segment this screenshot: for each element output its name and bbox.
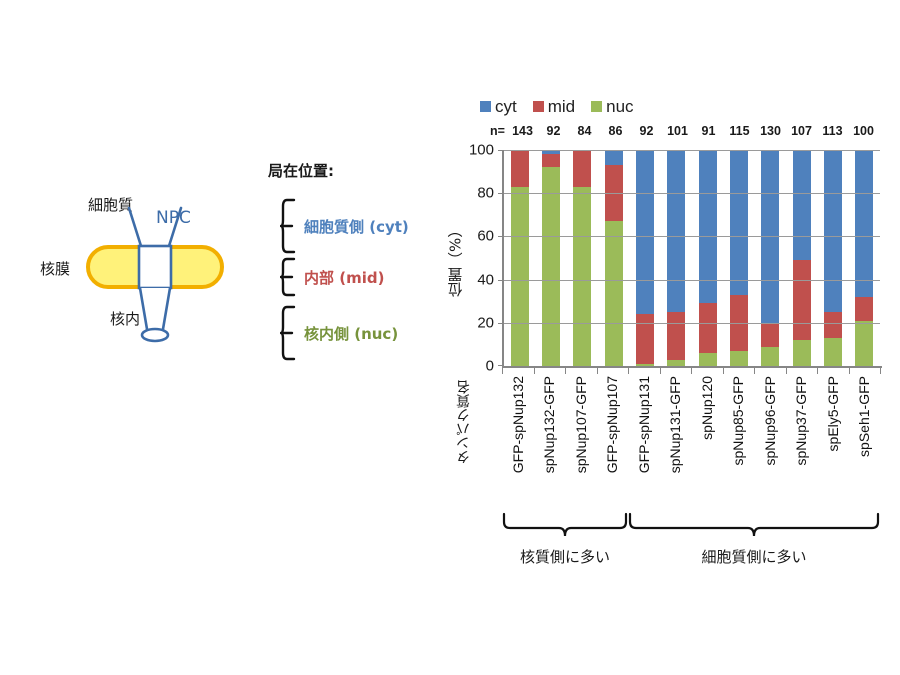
localization-label-nuc: 核内側 (nuc) xyxy=(304,323,398,344)
group-brace-1 xyxy=(630,514,878,536)
sample-size-row: n= 1439284869210191115130107113100 xyxy=(452,124,888,142)
bar-segment-nuc[interactable] xyxy=(855,321,873,366)
bar-slot[interactable] xyxy=(817,150,848,366)
bar-stack[interactable] xyxy=(511,150,529,366)
x-label-cell: spNup107-GFP xyxy=(565,376,597,506)
legend-swatch-mid-icon xyxy=(533,101,544,112)
x-tick-mark xyxy=(691,368,723,374)
x-label-cell: spEly5-GFP xyxy=(817,376,849,506)
sample-size-value: 86 xyxy=(600,124,631,138)
bar-segment-mid[interactable] xyxy=(636,314,654,364)
y-tick-label: 100 xyxy=(469,142,494,159)
bar-stack[interactable] xyxy=(824,150,842,366)
x-label-cell: GFP-spNup131 xyxy=(628,376,660,506)
bar-stack[interactable] xyxy=(855,150,873,366)
bar-slot[interactable] xyxy=(598,150,629,366)
legend-item-mid[interactable]: mid xyxy=(533,98,575,115)
bar-slot[interactable] xyxy=(504,150,535,366)
bar-slot[interactable] xyxy=(723,150,754,366)
diagram-label-npc: NPC xyxy=(156,208,191,228)
y-tick-label: 20 xyxy=(477,314,494,331)
bar-segment-mid[interactable] xyxy=(824,312,842,338)
x-axis-label: spNup37-GFP xyxy=(794,376,808,465)
group-brace-0 xyxy=(504,514,626,536)
nuclear-basket-ring xyxy=(142,329,168,341)
bar-stack[interactable] xyxy=(699,150,717,366)
legend-label-mid: mid xyxy=(548,98,575,115)
plot-wrapper: 位置（%） 020406080100 xyxy=(452,150,888,370)
bar-stack[interactable] xyxy=(793,150,811,366)
bar-segment-mid[interactable] xyxy=(542,154,560,167)
group-label-0: 核質側に多い xyxy=(520,546,610,567)
bar-segment-nuc[interactable] xyxy=(605,221,623,366)
x-tick-mark xyxy=(565,368,597,374)
bar-segment-cyt[interactable] xyxy=(605,150,623,165)
y-tick-mark xyxy=(498,236,504,237)
sample-size-value: 130 xyxy=(755,124,786,138)
cytoplasmic-filament-left xyxy=(129,208,141,246)
x-axis-label: spEly5-GFP xyxy=(826,376,840,451)
bar-segment-nuc[interactable] xyxy=(730,351,748,366)
bar-slot[interactable] xyxy=(755,150,786,366)
bar-series-container xyxy=(504,150,880,366)
bar-slot[interactable] xyxy=(567,150,598,366)
x-label-cell: GFP-spNup107 xyxy=(597,376,629,506)
localization-row-mid: 内部 (mid) xyxy=(280,257,384,297)
x-axis-label: spNup132-GFP xyxy=(542,376,556,473)
legend-swatch-nuc-icon xyxy=(591,101,602,112)
npc-structure-graphic xyxy=(40,150,280,380)
bar-segment-nuc[interactable] xyxy=(761,347,779,366)
bar-stack[interactable] xyxy=(636,150,654,366)
chart-legend: cytmidnuc xyxy=(480,98,634,115)
x-tick-mark xyxy=(849,368,881,374)
gridline xyxy=(504,150,880,151)
x-label-cell: spSeh1-GFP xyxy=(849,376,881,506)
bar-segment-nuc[interactable] xyxy=(542,167,560,366)
x-tick-mark xyxy=(723,368,755,374)
x-axis-label: spNup131-GFP xyxy=(668,376,682,473)
x-axis-label: spSeh1-GFP xyxy=(857,376,871,457)
localization-row-nuc: 核内側 (nuc) xyxy=(280,305,398,361)
bar-segment-mid[interactable] xyxy=(793,260,811,340)
x-axis-label: spNup120 xyxy=(700,376,714,440)
x-tick-mark xyxy=(754,368,786,374)
legend-item-cyt[interactable]: cyt xyxy=(480,98,517,115)
y-axis-title: 位置（%） xyxy=(444,190,466,330)
x-axis-title: タンパク質名 xyxy=(454,380,474,464)
sample-size-value: 100 xyxy=(848,124,879,138)
bar-stack[interactable] xyxy=(542,150,560,366)
bar-segment-mid[interactable] xyxy=(699,303,717,353)
x-tick-mark xyxy=(502,368,534,374)
y-axis-tick-labels: 020406080100 xyxy=(466,150,498,366)
legend-swatch-cyt-icon xyxy=(480,101,491,112)
plot-area xyxy=(502,150,880,366)
sample-size-values: 1439284869210191115130107113100 xyxy=(507,124,879,138)
brace-icon-cyt xyxy=(280,198,300,254)
y-tick-label: 0 xyxy=(486,358,494,375)
bar-segment-cyt[interactable] xyxy=(824,150,842,312)
sample-size-value: 143 xyxy=(507,124,538,138)
bar-segment-mid[interactable] xyxy=(855,297,873,321)
legend-item-nuc[interactable]: nuc xyxy=(591,98,633,115)
bar-segment-cyt[interactable] xyxy=(855,150,873,297)
legend-label-cyt: cyt xyxy=(495,98,517,115)
bar-slot[interactable] xyxy=(629,150,660,366)
x-label-cell: GFP-spNup132 xyxy=(502,376,534,506)
x-axis-label: GFP-spNup131 xyxy=(637,376,651,473)
y-tick-label: 40 xyxy=(477,271,494,288)
x-axis-ticks xyxy=(502,368,880,374)
group-label-1: 細胞質側に多い xyxy=(701,546,806,567)
x-axis-label: spNup107-GFP xyxy=(574,376,588,473)
x-axis-category-labels: GFP-spNup132spNup132-GFPspNup107-GFPGFP-… xyxy=(502,376,880,506)
sample-size-prefix: n= xyxy=(490,124,505,138)
x-tick-mark xyxy=(660,368,692,374)
x-axis-label: spNup85-GFP xyxy=(731,376,745,465)
npc-diagram-panel: 細胞質 核膜 核内 NPC 局在位置: 細胞質側 (cyt) 内部 (mid) xyxy=(40,150,440,380)
gridline xyxy=(504,323,880,324)
x-label-cell: spNup96-GFP xyxy=(754,376,786,506)
gridline xyxy=(504,280,880,281)
x-tick-mark xyxy=(597,368,629,374)
gridline xyxy=(504,236,880,237)
y-tick-label: 60 xyxy=(477,228,494,245)
bar-segment-nuc[interactable] xyxy=(573,187,591,366)
x-label-cell: spNup37-GFP xyxy=(786,376,818,506)
sample-size-value: 92 xyxy=(538,124,569,138)
y-tick-mark xyxy=(498,193,504,194)
sample-size-value: 92 xyxy=(631,124,662,138)
localization-legend-title: 局在位置: xyxy=(268,160,334,181)
x-label-cell: spNup120 xyxy=(691,376,723,506)
bar-stack[interactable] xyxy=(667,150,685,366)
bar-segment-cyt[interactable] xyxy=(730,150,748,295)
x-axis-label: GFP-spNup107 xyxy=(605,376,619,473)
bar-stack[interactable] xyxy=(761,150,779,366)
group-brace-graphics xyxy=(502,512,882,542)
x-label-cell: spNup131-GFP xyxy=(660,376,692,506)
bar-segment-nuc[interactable] xyxy=(793,340,811,366)
bar-segment-cyt[interactable] xyxy=(636,150,654,314)
sample-size-value: 113 xyxy=(817,124,848,138)
x-axis-label: spNup96-GFP xyxy=(763,376,777,465)
x-tick-mark xyxy=(534,368,566,374)
legend-label-nuc: nuc xyxy=(606,98,633,115)
npc-central-core xyxy=(139,246,171,288)
bar-segment-mid[interactable] xyxy=(761,323,779,347)
localization-label-mid: 内部 (mid) xyxy=(304,267,384,288)
sample-size-value: 84 xyxy=(569,124,600,138)
y-tick-mark xyxy=(498,280,504,281)
bar-slot[interactable] xyxy=(535,150,566,366)
bar-segment-nuc[interactable] xyxy=(511,187,529,366)
x-label-cell: spNup132-GFP xyxy=(534,376,566,506)
bar-slot[interactable] xyxy=(786,150,817,366)
y-tick-label: 80 xyxy=(477,185,494,202)
sample-size-value: 107 xyxy=(786,124,817,138)
x-tick-mark xyxy=(786,368,818,374)
x-tick-mark xyxy=(817,368,849,374)
bar-segment-mid[interactable] xyxy=(573,150,591,187)
bar-stack[interactable] xyxy=(730,150,748,366)
bar-stack[interactable] xyxy=(573,150,591,366)
bar-segment-cyt[interactable] xyxy=(667,150,685,312)
localization-label-cyt: 細胞質側 (cyt) xyxy=(304,216,409,237)
bar-slot[interactable] xyxy=(849,150,880,366)
bar-slot[interactable] xyxy=(692,150,723,366)
bar-segment-cyt[interactable] xyxy=(793,150,811,260)
x-axis-tick-end xyxy=(880,368,881,374)
brace-icon-nuc xyxy=(280,305,300,361)
sample-size-value: 91 xyxy=(693,124,724,138)
y-tick-mark xyxy=(498,323,504,324)
x-label-cell: spNup85-GFP xyxy=(723,376,755,506)
sample-size-value: 101 xyxy=(662,124,693,138)
group-label-row: 核質側に多い細胞質側に多い xyxy=(502,546,882,570)
x-axis-label: GFP-spNup132 xyxy=(511,376,525,473)
bar-slot[interactable] xyxy=(661,150,692,366)
bar-segment-mid[interactable] xyxy=(511,150,529,187)
bar-stack[interactable] xyxy=(605,150,623,366)
localization-bar-chart: cytmidnuc n= 143928486921019111513010711… xyxy=(452,98,892,618)
bar-segment-mid[interactable] xyxy=(667,312,685,360)
x-tick-mark xyxy=(628,368,660,374)
localization-row-cyt: 細胞質側 (cyt) xyxy=(280,198,409,254)
brace-icon-mid xyxy=(280,257,300,297)
y-tick-mark xyxy=(498,150,504,151)
gridline xyxy=(504,193,880,194)
sample-size-value: 115 xyxy=(724,124,755,138)
bar-segment-nuc[interactable] xyxy=(824,338,842,366)
